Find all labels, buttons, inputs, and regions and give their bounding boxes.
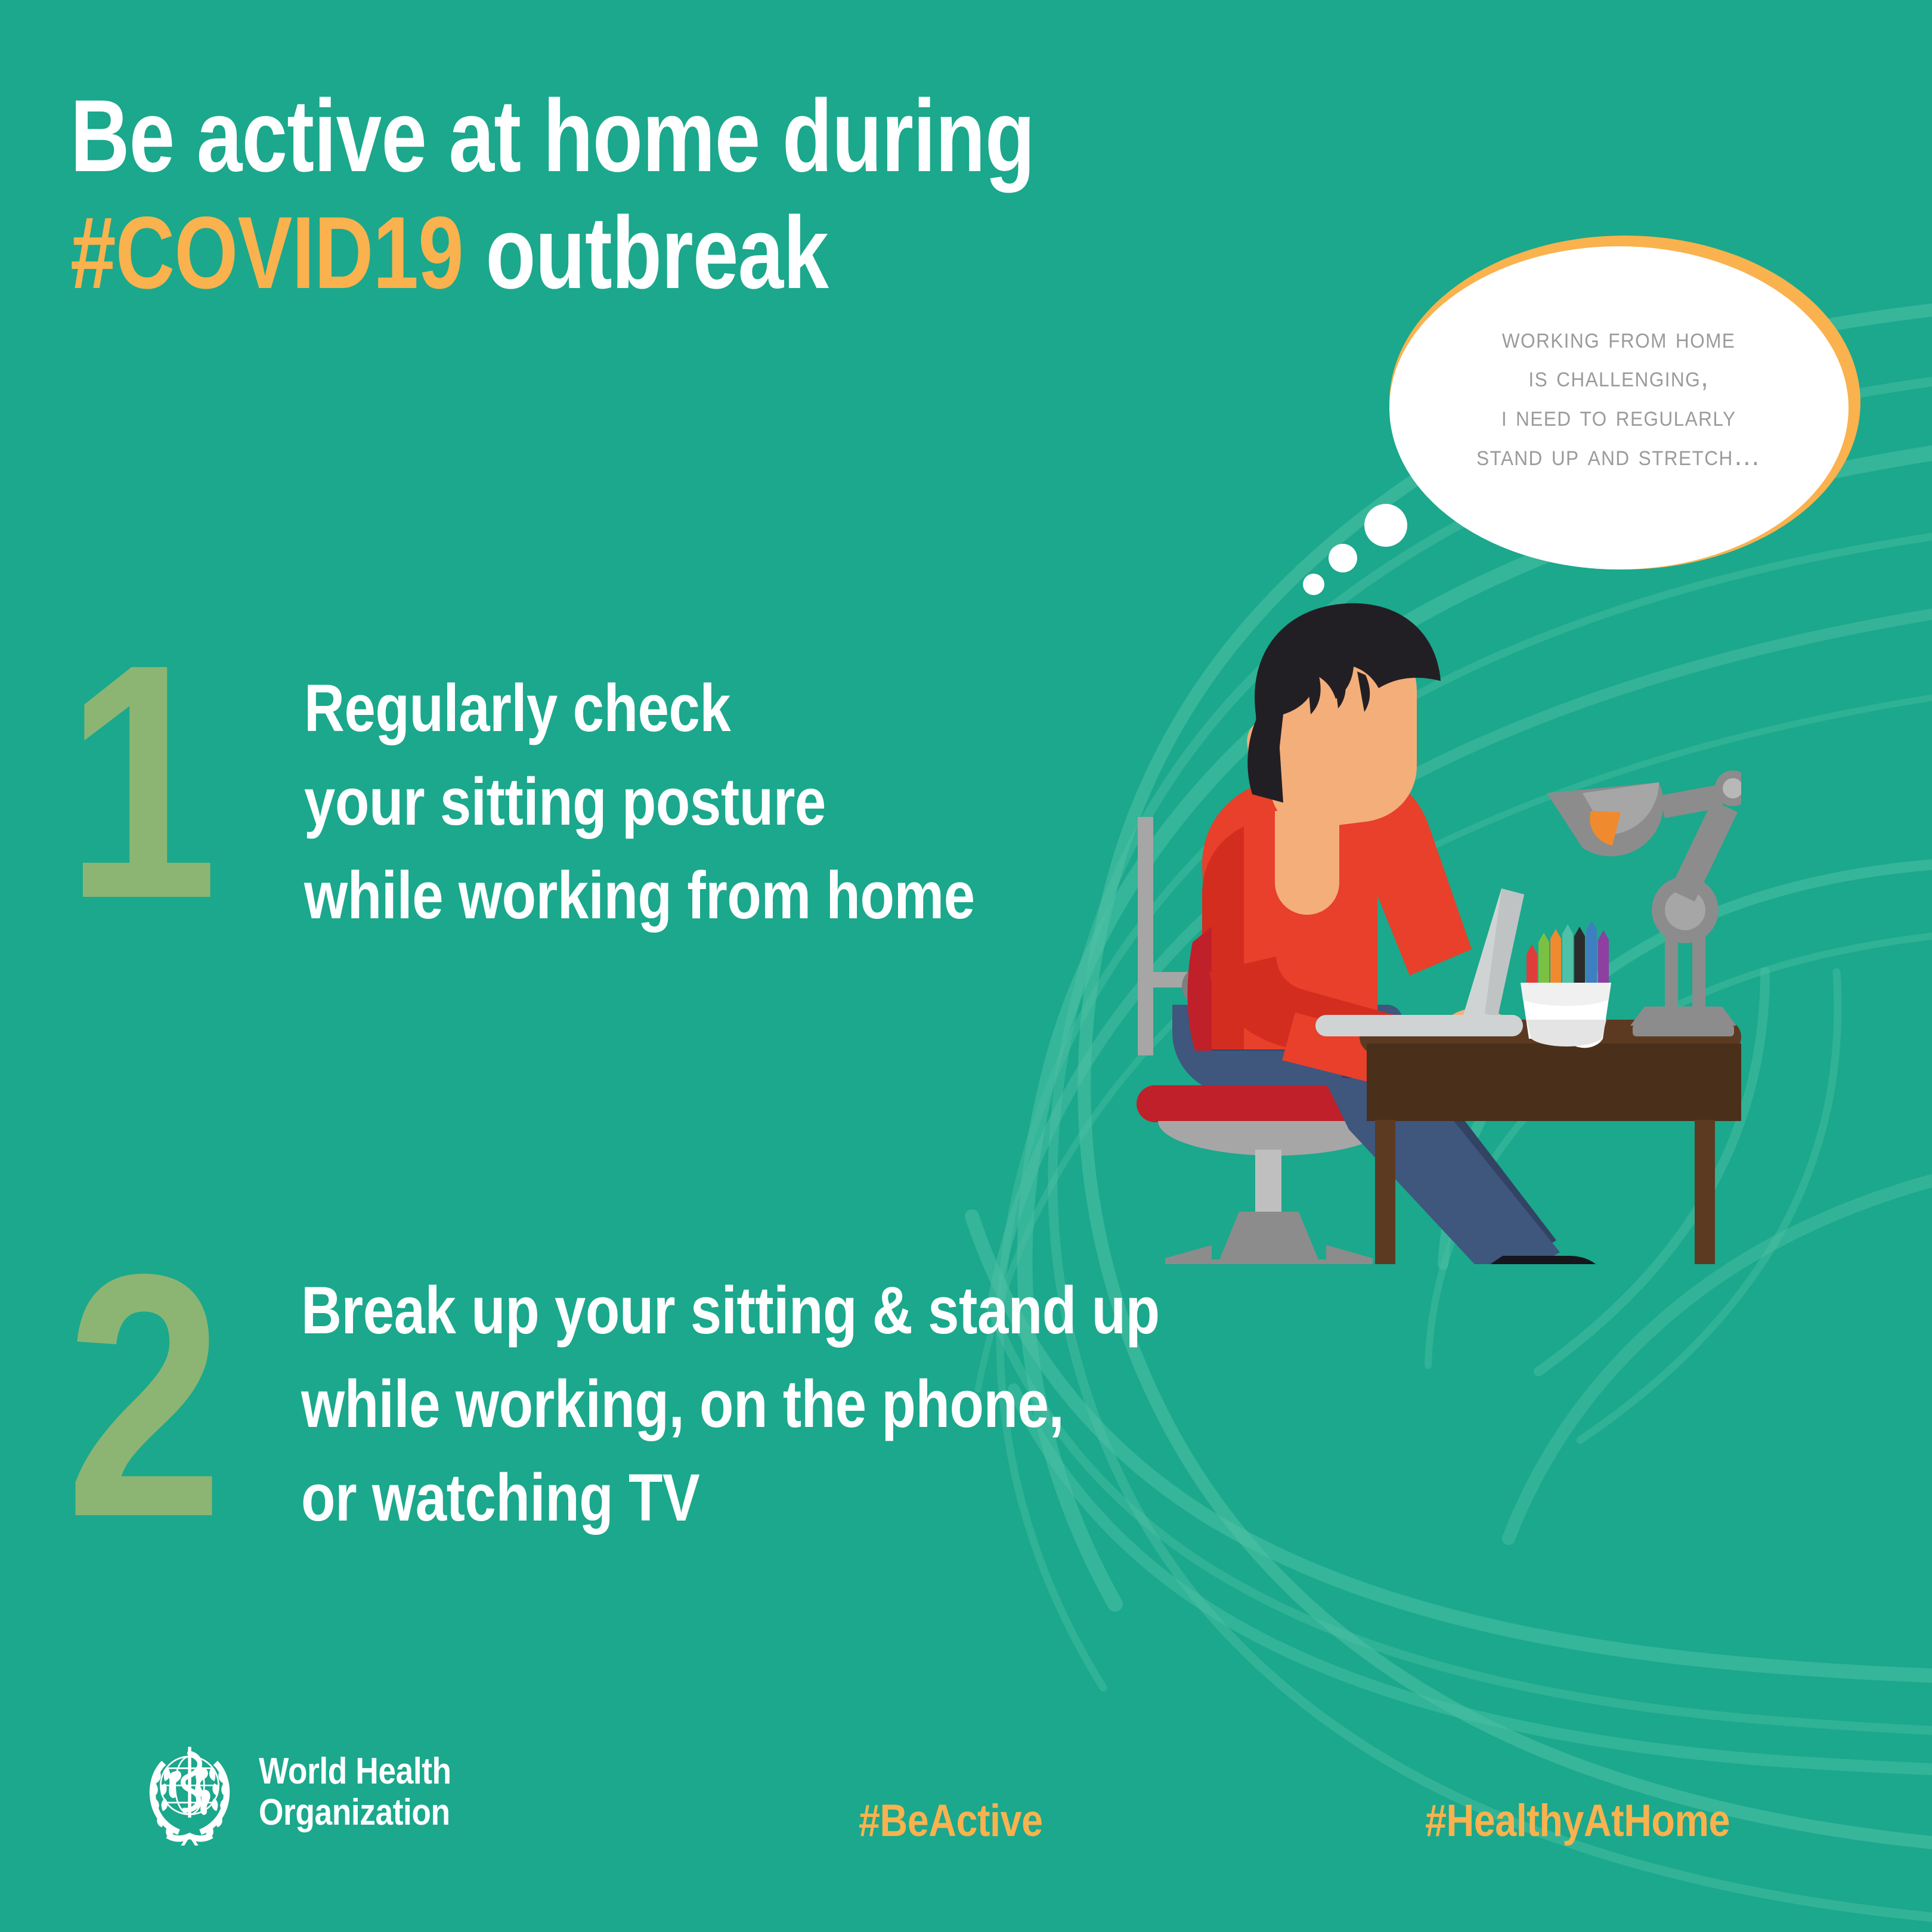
tip-1-text: Regularly check your sitting posture whi…	[304, 662, 1103, 942]
page-title: Be active at home during #COVID19 outbre…	[70, 78, 1323, 311]
headline-outbreak-word: outbreak	[463, 196, 828, 310]
thought-dot-large	[1364, 504, 1407, 547]
bubble-text-block: Working from home is challenging, I need…	[1389, 236, 1849, 559]
tip-1-line-1: Regularly check	[304, 662, 975, 756]
bubble-line-1: Working from home	[1502, 320, 1736, 357]
tip-1-line-2: your sitting posture	[304, 756, 975, 849]
who-word-line-1: World Health	[259, 1751, 451, 1792]
tip-1-number: 1	[66, 614, 218, 948]
seated-person	[1187, 603, 1604, 1264]
bubble-line-4: stand up and stretch…	[1476, 438, 1761, 475]
who-wordmark: World Health Organization	[259, 1751, 482, 1834]
tip-2-line-3: or watching TV	[301, 1451, 1160, 1545]
pencil-cup	[1521, 921, 1611, 1048]
headline-line-2: #COVID19 outbreak	[70, 194, 1072, 311]
covid19-hashtag: #COVID19	[70, 196, 463, 310]
infographic-poster: Be active at home during #COVID19 outbre…	[0, 0, 1932, 1932]
working-from-home-illustration	[1085, 561, 1741, 1264]
who-logo: World Health Organization	[136, 1732, 500, 1851]
tip-1-line-3: while working from home	[304, 849, 975, 943]
tip-2-line-2: while working, on the phone,	[301, 1358, 1160, 1451]
bubble-line-2: is challenging,	[1529, 359, 1710, 396]
hashtag-healthyathome: #HealthyAtHome	[1425, 1795, 1730, 1847]
tip-2-number: 2	[66, 1222, 224, 1568]
tip-2-text: Break up your sitting & stand up while w…	[301, 1264, 1323, 1544]
bubble-line-3: I need to regularly	[1501, 398, 1736, 435]
colored-pencils	[1527, 921, 1609, 987]
who-emblem-icon	[136, 1738, 243, 1846]
headline-line-1: Be active at home during	[70, 78, 1072, 194]
thought-bubble: Working from home is challenging, I need…	[1389, 236, 1860, 569]
who-word-line-2: Organization	[259, 1792, 451, 1833]
tip-2-line-1: Break up your sitting & stand up	[301, 1264, 1160, 1358]
hashtag-beactive: #BeActive	[859, 1795, 1043, 1847]
